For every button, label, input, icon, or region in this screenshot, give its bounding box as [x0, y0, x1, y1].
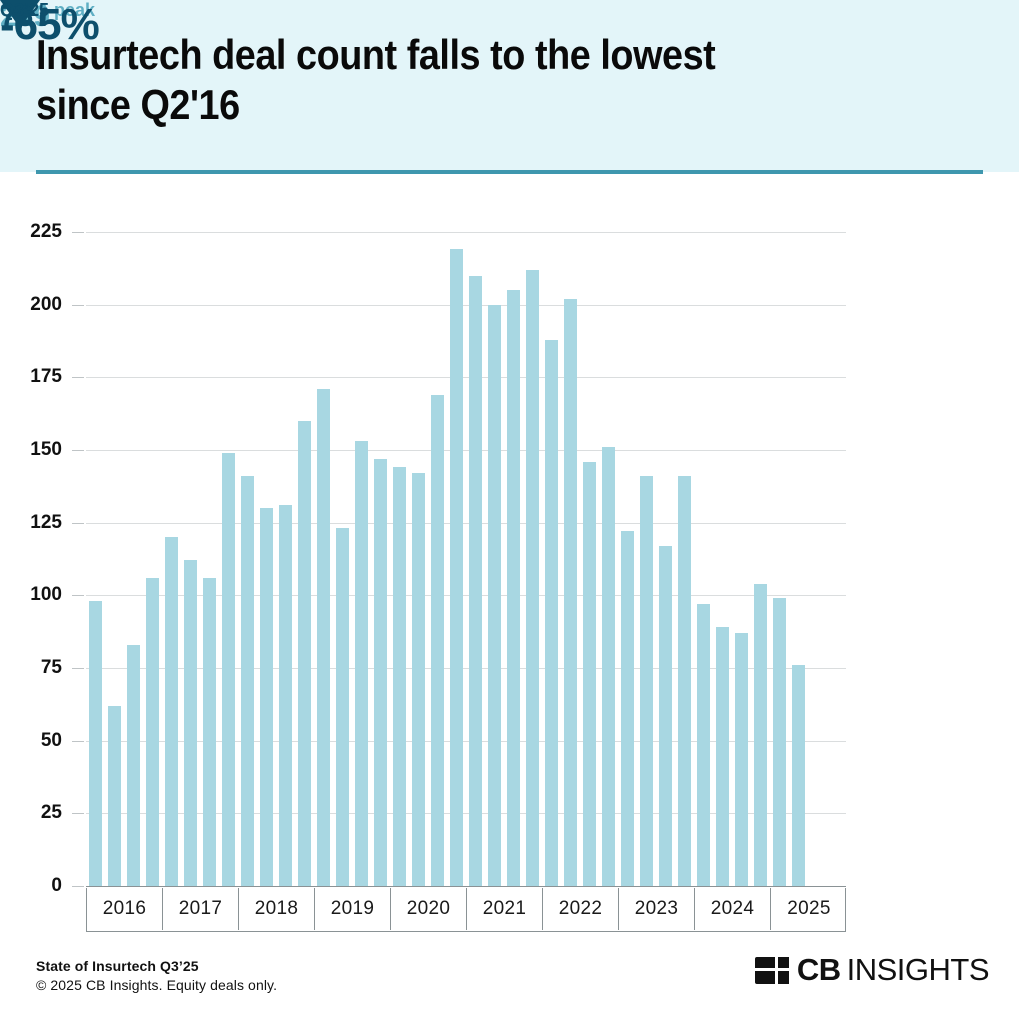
bar-Q2'17: [184, 560, 198, 886]
gridline-25: [86, 813, 846, 814]
logo-cb-text: CB: [797, 952, 841, 988]
y-axis-label-150: 150: [0, 439, 62, 461]
y-axis-label-50: 50: [0, 730, 62, 752]
bar-Q1'23: [621, 531, 635, 886]
cb-insights-logo: CB INSIGHTS: [755, 952, 989, 988]
cb-insights-mark-icon: [755, 957, 789, 984]
bar-Q2'20: [412, 473, 426, 886]
x-axis-year-label-2021: 2021: [483, 898, 526, 920]
x-axis-year-label-2018: 2018: [255, 898, 298, 920]
bar-Q4'23: [678, 476, 692, 886]
x-axis-year-2025: 2025: [771, 888, 847, 930]
bar-Q2'18: [260, 508, 274, 886]
gridline-150: [86, 450, 846, 451]
bar-Q1'19: [317, 389, 331, 886]
bar-Q1'17: [165, 537, 179, 886]
bar-Q1'25: [773, 598, 787, 886]
y-axis-tick-25: [72, 813, 84, 814]
y-axis-tick-200: [72, 305, 84, 306]
bar-Q3'16: [127, 645, 141, 886]
x-axis-year-label-2017: 2017: [179, 898, 222, 920]
gridline-125: [86, 523, 846, 524]
gridline-225: [86, 232, 846, 233]
bar-Q1'16: [89, 601, 103, 886]
y-axis-tick-75: [72, 668, 84, 669]
bar-Q4'22: [602, 447, 616, 886]
gridline-75: [86, 668, 846, 669]
bar-Q2'21: [488, 305, 502, 886]
bar-Q3'19: [355, 441, 369, 886]
gridline-100: [86, 595, 846, 596]
y-axis-label-225: 225: [0, 221, 62, 243]
bar-Q3'22: [583, 462, 597, 886]
bar-Q4'24: [754, 584, 768, 886]
bar-Q2'19: [336, 528, 350, 886]
bar-Q4'20: [450, 249, 464, 886]
x-axis-year-2017: 2017: [163, 888, 239, 930]
bar-Q4'19: [374, 459, 388, 886]
bar-Q3'24: [735, 633, 749, 886]
y-axis-label-0: 0: [0, 875, 62, 897]
low-caption: Q3’25: [0, 0, 49, 21]
bar-Q2'16: [108, 706, 122, 886]
x-axis-year-bands: 2016201720182019202020212022202320242025: [86, 888, 846, 932]
y-axis-label-100: 100: [0, 584, 62, 606]
bar-Q1'21: [469, 276, 483, 886]
x-axis-year-label-2023: 2023: [635, 898, 678, 920]
x-axis-year-2019: 2019: [315, 888, 391, 930]
bar-Q1'18: [241, 476, 255, 886]
x-axis-year-label-2025: 2025: [787, 898, 830, 920]
footer-copyright: © 2025 CB Insights. Equity deals only.: [36, 977, 277, 993]
bar-Q3'17: [203, 578, 217, 886]
y-axis-tick-0: [72, 886, 84, 887]
y-axis-label-25: 25: [0, 802, 62, 824]
chart-area: 0255075100125150175200225 20162017201820…: [0, 190, 1019, 930]
x-axis-year-label-2016: 2016: [103, 898, 146, 920]
x-axis-year-label-2022: 2022: [559, 898, 602, 920]
y-axis-label-75: 75: [0, 657, 62, 679]
gridline-50: [86, 741, 846, 742]
y-axis-tick-225: [72, 232, 84, 233]
bar-Q1'24: [697, 604, 711, 886]
page-title: Insurtech deal count falls to the lowest…: [36, 30, 828, 130]
gridline-0: [86, 886, 846, 887]
bar-Q4'18: [298, 421, 312, 886]
x-axis-year-label-2020: 2020: [407, 898, 450, 920]
bar-Q4'17: [222, 453, 236, 886]
y-axis-label-125: 125: [0, 512, 62, 534]
x-axis-year-2020: 2020: [391, 888, 467, 930]
y-axis-label-200: 200: [0, 294, 62, 316]
x-axis-year-2022: 2022: [543, 888, 619, 930]
bar-Q2'24: [716, 627, 730, 886]
bar-Q1'20: [393, 467, 407, 886]
y-axis-tick-50: [72, 741, 84, 742]
y-axis-tick-125: [72, 523, 84, 524]
gridline-200: [86, 305, 846, 306]
x-axis-year-2018: 2018: [239, 888, 315, 930]
bar-Q3'20: [431, 395, 445, 886]
y-axis-tick-175: [72, 377, 84, 378]
x-axis-year-2024: 2024: [695, 888, 771, 930]
y-axis-tick-150: [72, 450, 84, 451]
bar-Q2'22: [564, 299, 578, 886]
logo-insights-text: INSIGHTS: [847, 952, 989, 988]
bar-Q3'21: [507, 290, 521, 886]
bar-Q2'25: [792, 665, 806, 886]
x-axis-year-2021: 2021: [467, 888, 543, 930]
bar-Q3'18: [279, 505, 293, 886]
bar-Q1'22: [545, 340, 559, 886]
title-divider: [36, 170, 983, 174]
gridline-175: [86, 377, 846, 378]
bar-Q4'21: [526, 270, 540, 886]
bar-Q2'23: [640, 476, 654, 886]
x-axis-year-label-2024: 2024: [711, 898, 754, 920]
bar-Q4'16: [146, 578, 160, 886]
bar-Q3'23: [659, 546, 673, 886]
y-axis-tick-100: [72, 595, 84, 596]
x-axis-year-2016: 2016: [87, 888, 163, 930]
plot-region: [86, 232, 846, 886]
y-axis-label-175: 175: [0, 366, 62, 388]
footer-source: State of Insurtech Q3’25: [36, 958, 199, 974]
x-axis-year-label-2019: 2019: [331, 898, 374, 920]
x-axis-year-2023: 2023: [619, 888, 695, 930]
